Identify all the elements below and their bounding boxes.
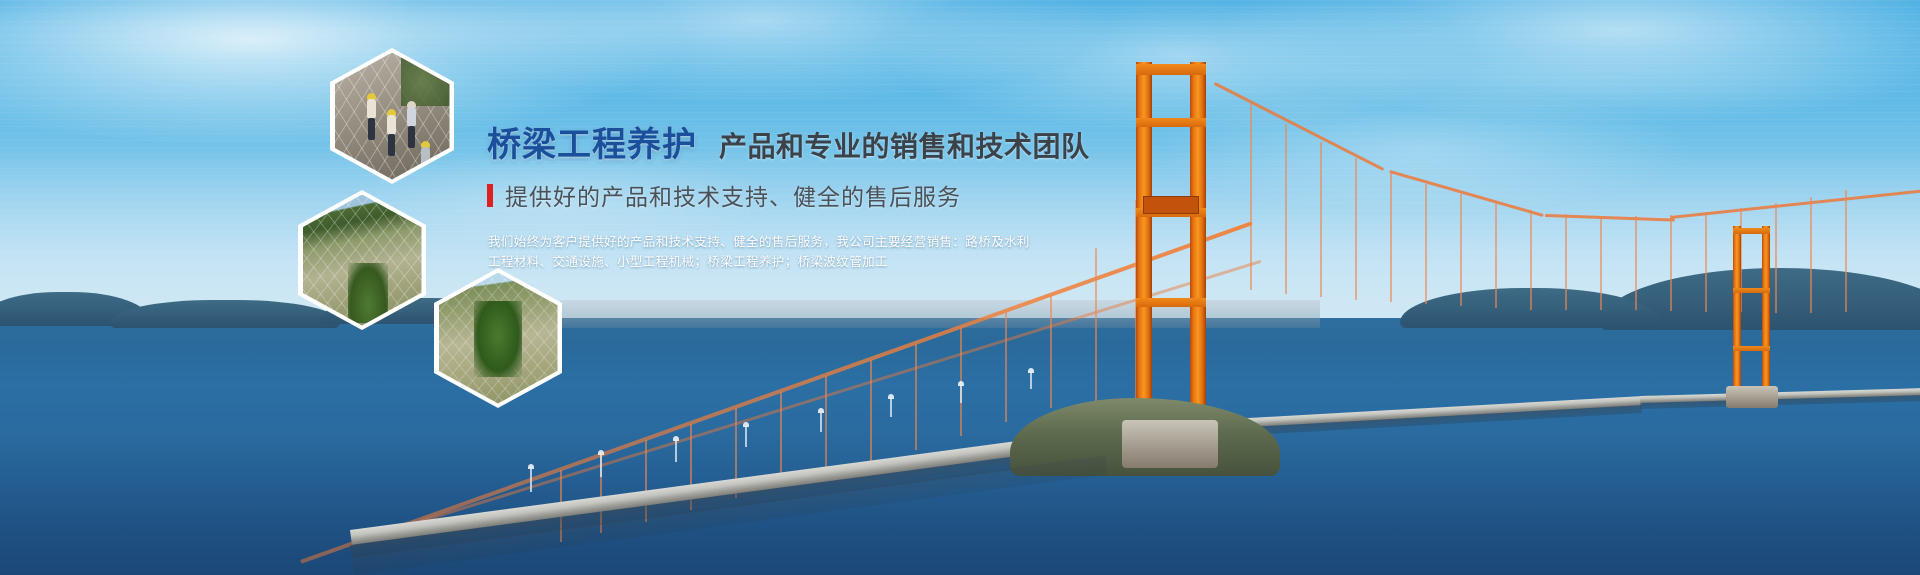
suspension-bridge: [0, 0, 1920, 575]
main-cable-center-span-b: [1389, 170, 1544, 217]
deck-lamp: [530, 468, 532, 492]
photo-hex-3[interactable]: [434, 268, 562, 408]
bridge-tower-far-crossbeam-mid: [1733, 288, 1770, 293]
bridge-tower-far-leg-left: [1733, 226, 1741, 402]
hanger: [1425, 184, 1427, 304]
hanger: [1810, 197, 1812, 313]
bridge-tower-far-crossbeam-top: [1733, 228, 1770, 234]
bridge-tower-far-crossbeam-lower: [1733, 346, 1770, 351]
hanger: [1250, 104, 1252, 290]
paragraph-line-1: 我们始终为客户提供好的产品和技术支持、健全的售后服务，我公司主要经营销售：路桥及…: [488, 232, 1047, 252]
accent-bar: [487, 184, 493, 207]
bridge-tower-far-leg-right: [1762, 226, 1770, 398]
hanger: [1600, 216, 1602, 310]
banner-subheadline: 提供好的产品和技术支持、健全的售后服务: [487, 178, 1047, 212]
deck-lamp: [1030, 372, 1032, 389]
hanger: [1005, 312, 1007, 422]
hanger: [1775, 203, 1777, 313]
far-tower-pier: [1726, 386, 1778, 408]
hanger: [1705, 212, 1707, 312]
vegetated-slope-netting-photo: [303, 195, 422, 326]
photo-hex-1[interactable]: [330, 48, 454, 184]
hanger: [1530, 210, 1532, 310]
hanger: [1355, 158, 1357, 300]
hanger: [1495, 203, 1497, 308]
hanger: [1285, 124, 1287, 294]
hanger: [1050, 296, 1052, 408]
hanger: [1635, 216, 1637, 310]
deck-lamp: [960, 385, 962, 403]
banner-paragraph: 我们始终为客户提供好的产品和技术支持、健全的售后服务，我公司主要经营销售：路桥及…: [488, 232, 1047, 272]
tower-pier: [1122, 420, 1218, 468]
bridge-tower-main-crossbeam-top: [1136, 64, 1206, 75]
deck-lamp: [745, 426, 747, 447]
paragraph-line-2: 工程材料、交通设施、小型工程机械；桥梁工程养护；桥梁波纹管加工: [488, 252, 1047, 272]
hanger: [1565, 214, 1567, 310]
headline-primary: 桥梁工程养护: [487, 128, 697, 162]
photo-hex-2[interactable]: [298, 190, 426, 330]
deck-lamp: [600, 454, 602, 477]
hanger: [1095, 248, 1097, 402]
deck-lamp: [675, 440, 677, 462]
hanger: [915, 344, 917, 450]
banner-text-block: 桥梁工程养护 产品和专业的销售和技术团队 提供好的产品和技术支持、健全的售后服务…: [487, 128, 1047, 272]
hanger: [1670, 215, 1672, 311]
roadside-slope-netting-photo: [439, 273, 558, 404]
banner-headline: 桥梁工程养护 产品和专业的销售和技术团队: [487, 128, 1047, 162]
bridge-tower-main-crossbeam-upper: [1136, 118, 1206, 127]
main-cable-right-span: [1670, 189, 1920, 219]
bridge-tower-main-crossbeam-lower: [1136, 298, 1206, 307]
hanger: [825, 376, 827, 474]
headline-secondary: 产品和专业的销售和技术团队: [719, 133, 1090, 161]
hanger: [1320, 142, 1322, 297]
hanger: [1845, 190, 1847, 312]
deck-lamp: [890, 398, 892, 417]
hanger: [1460, 194, 1462, 306]
subheadline-text: 提供好的产品和技术支持、健全的售后服务: [505, 178, 961, 212]
hanger: [870, 360, 872, 462]
bridge-tower-nameplate: [1143, 196, 1199, 214]
deck-lamp: [820, 412, 822, 432]
hanger: [1390, 172, 1392, 302]
main-cable-center-span-a: [1214, 82, 1385, 171]
hero-banner: 桥梁工程养护 产品和专业的销售和技术团队 提供好的产品和技术支持、健全的售后服务…: [0, 0, 1920, 575]
